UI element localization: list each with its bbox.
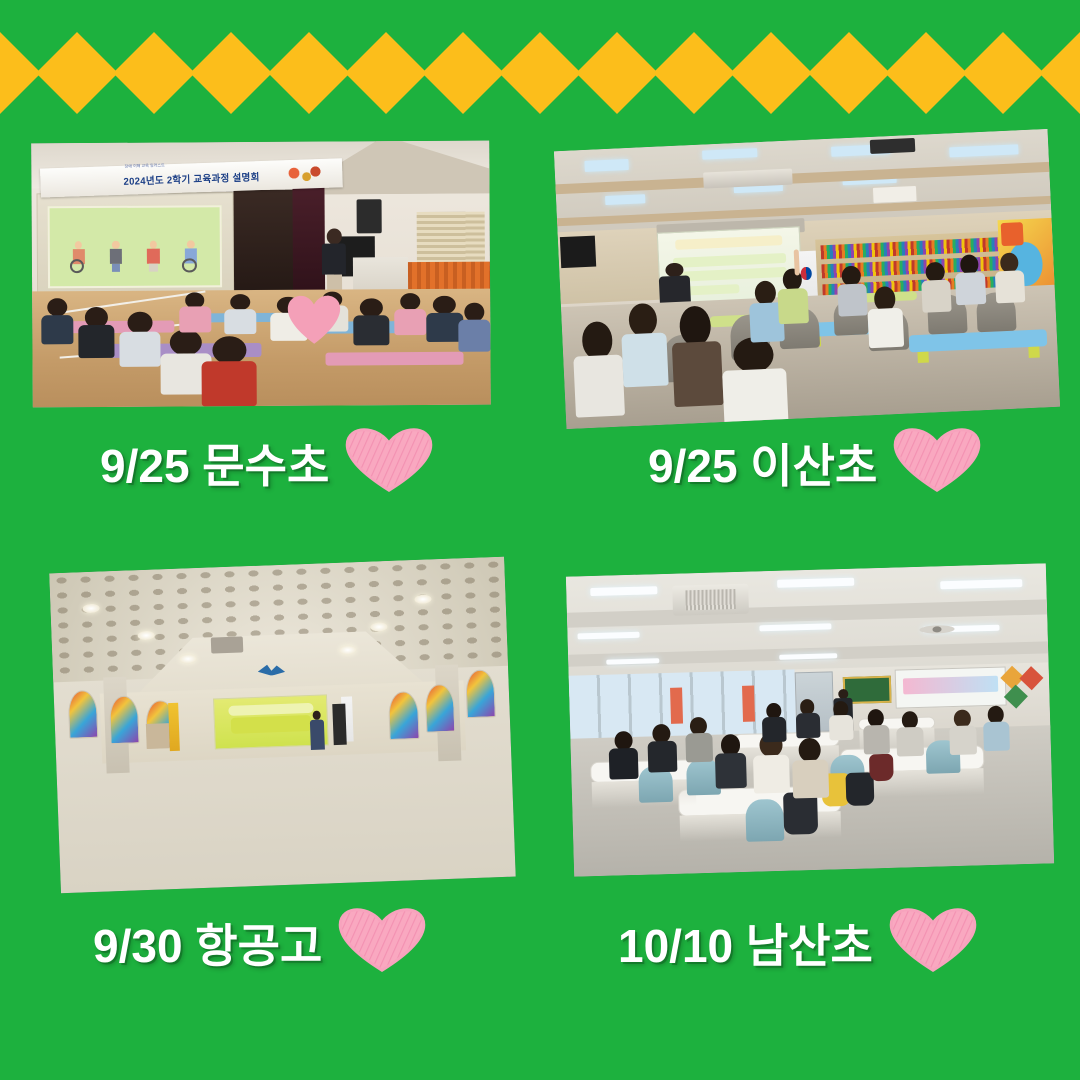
caption-text-3: 9/30 항공고 — [93, 910, 322, 976]
diamond-shape — [190, 32, 272, 114]
student-figure — [41, 298, 73, 345]
student-figure — [394, 293, 426, 335]
photo-namsan-elementary[interactable] — [566, 563, 1054, 876]
photo-collage-poster: 장애 이해 교육 일러스트 2024년도 2학기 교육과정 설명회 9/25 문… — [0, 0, 1080, 1080]
yoga-mat — [326, 351, 463, 366]
diamond-shape — [653, 32, 735, 114]
diamond-ribbon — [0, 0, 1080, 125]
caption-text-1: 9/25 문수초 — [100, 430, 329, 496]
caption-cell-2: 9/25 이산초 — [648, 428, 983, 497]
student-figure — [458, 302, 490, 351]
projector-icon — [870, 138, 915, 154]
caption-cell-1: 9/25 문수초 — [100, 428, 435, 497]
diamond-shape — [345, 32, 427, 114]
caption-text-2: 9/25 이산초 — [648, 430, 877, 496]
student-figure — [353, 298, 390, 345]
ceiling-ac-unit — [672, 584, 750, 616]
student-figure — [78, 307, 115, 358]
photo-hanggong-highschool[interactable] — [49, 557, 515, 893]
banner-top-text: 장애 이해 교육 일러스트 — [125, 162, 165, 169]
student-figure — [224, 294, 256, 334]
diamond-shape — [1039, 32, 1080, 114]
wall-monitor — [560, 236, 596, 268]
diamond-shape — [885, 32, 967, 114]
wall-decor-diamonds — [1001, 665, 1045, 708]
projection-screen — [48, 206, 223, 289]
diamond-shape — [808, 32, 890, 114]
projector-icon — [211, 637, 243, 654]
caption-cell-3: 9/30 항공고 — [93, 908, 428, 977]
ceiling-speaker-icon — [357, 199, 382, 233]
banner-sub-text — [107, 192, 108, 196]
diamond-shape — [962, 32, 1044, 114]
banner-main-text: 2024년도 2학기 교육과정 설명회 — [123, 168, 260, 187]
diamond-shape — [113, 32, 195, 114]
diamond-shape — [422, 32, 504, 114]
student-figure — [119, 311, 161, 367]
student-audience — [49, 729, 515, 893]
diamond-shape — [730, 32, 812, 114]
caption-text-4: 10/10 남산초 — [618, 910, 873, 976]
pink-heart-privacy-sticker — [284, 295, 344, 346]
diamond-shape — [36, 32, 118, 114]
student-figure — [179, 292, 211, 332]
ceiling-fan-icon — [918, 617, 957, 642]
heart-scribble-icon — [343, 428, 435, 497]
photo-munsu-elementary[interactable]: 장애 이해 교육 일러스트 2024년도 2학기 교육과정 설명회 — [31, 141, 491, 408]
diamond-shape — [576, 32, 658, 114]
student-figure — [202, 336, 257, 406]
caption-cell-4: 10/10 남산초 — [618, 908, 979, 977]
white-board — [895, 667, 1006, 709]
diamond-shape — [0, 32, 41, 114]
diamond-shape — [499, 32, 581, 114]
photo-isan-elementary[interactable] — [554, 129, 1060, 429]
heart-scribble-icon — [336, 908, 428, 977]
heart-scribble-icon — [891, 428, 983, 497]
diamond-shape — [268, 32, 350, 114]
heart-scribble-icon — [887, 908, 979, 977]
